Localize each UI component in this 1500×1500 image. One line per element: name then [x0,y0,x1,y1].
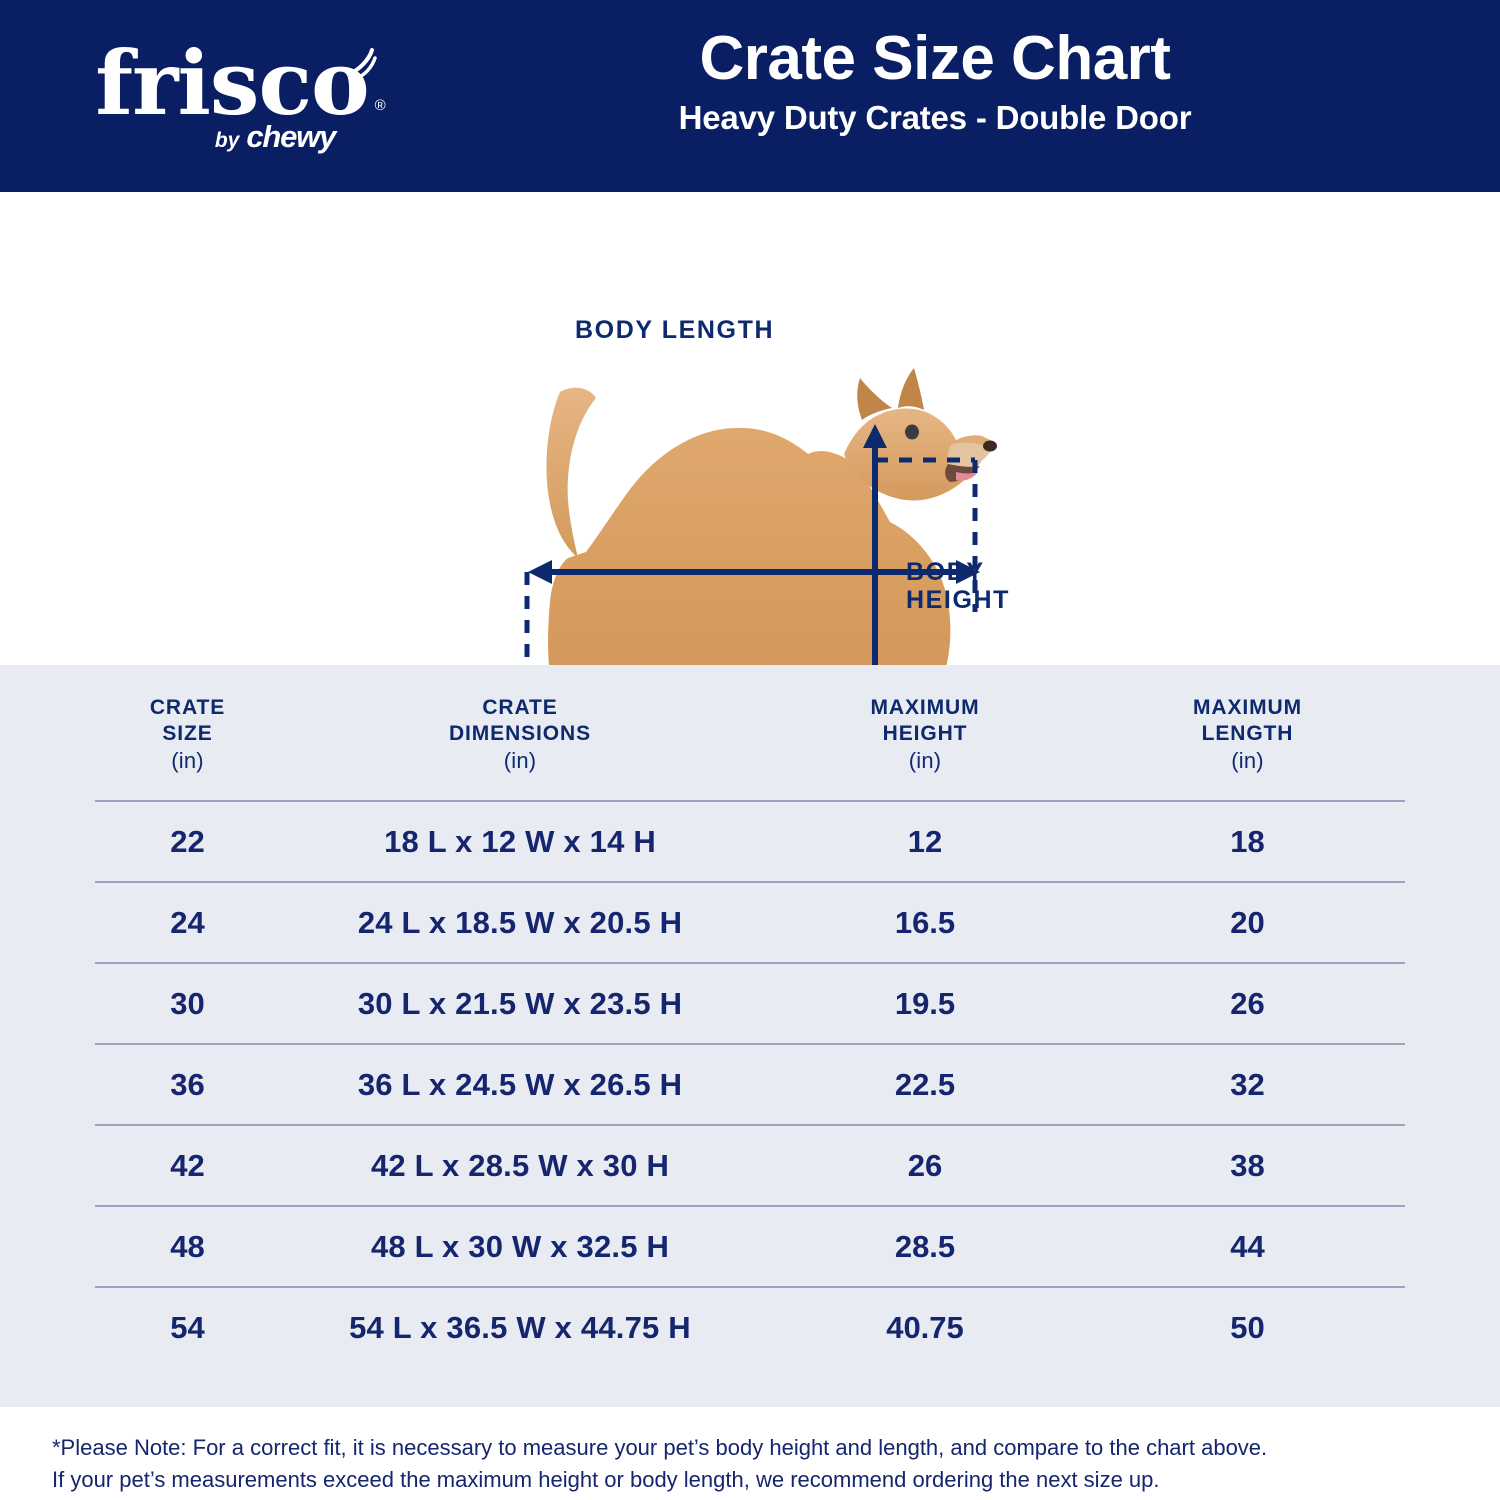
table-left-spacer [0,665,95,801]
header-titles: Crate Size Chart Heavy Duty Crates - Dou… [430,24,1440,137]
frisco-logo: frisco ® by chewy [72,36,392,161]
cell-maximum-length: 44 [1090,1206,1405,1287]
cell-maximum-length: 26 [1090,963,1405,1044]
cell-crate-dimensions: 36 L x 24.5 W x 26.5 H [280,1044,760,1125]
footer-note-line2: If your pet’s measurements exceed the ma… [52,1464,1452,1496]
table-row: 3030 L x 21.5 W x 23.5 H19.526 [0,963,1500,1044]
cell-maximum-height: 12 [760,801,1090,882]
cell-maximum-length: 18 [1090,801,1405,882]
page-footer: *Please Note: For a correct fit, it is n… [0,1407,1500,1500]
cell-crate-dimensions: 30 L x 21.5 W x 23.5 H [280,963,760,1044]
crate-size-chart-page: frisco ® by chewy Crate Size Chart Heavy… [0,0,1500,1500]
cell-crate-dimensions: 42 L x 28.5 W x 30 H [280,1125,760,1206]
size-table-section: CRATE SIZE (in) CRATE DIMENSIONS (in) [0,665,1500,1407]
cell-crate-size: 30 [95,963,280,1044]
table-row: 5454 L x 36.5 W x 44.75 H40.7550 [0,1287,1500,1368]
dog-illustration [547,368,998,665]
crate-size-header-line1: CRATE [150,696,225,719]
cell-crate-dimensions: 18 L x 12 W x 14 H [280,801,760,882]
crate-dimensions-header-line2: DIMENSIONS [449,722,591,745]
cell-maximum-height: 22.5 [760,1044,1090,1125]
body-height-label: BODYHEIGHT [906,558,1010,614]
cell-crate-size: 42 [95,1125,280,1206]
crate-dimensions-header-unit: (in) [280,748,760,774]
dog-measurement-illustration [0,192,1500,665]
cell-crate-size: 36 [95,1044,280,1125]
registered-trademark-icon: ® [375,99,385,113]
footer-note-line1: *Please Note: For a correct fit, it is n… [52,1432,1452,1464]
maximum-length-header-line1: MAXIMUM [1193,696,1302,719]
cell-crate-size: 22 [95,801,280,882]
row-right-spacer [1405,1287,1500,1368]
row-right-spacer [1405,801,1500,882]
row-right-spacer [1405,882,1500,963]
table-row: 2424 L x 18.5 W x 20.5 H16.520 [0,882,1500,963]
body-length-label: BODY LENGTH [575,316,774,344]
column-header-crate-dimensions: CRATE DIMENSIONS (in) [280,665,760,801]
cell-maximum-height: 26 [760,1125,1090,1206]
cell-crate-size: 54 [95,1287,280,1368]
cell-maximum-height: 40.75 [760,1287,1090,1368]
table-header-row: CRATE SIZE (in) CRATE DIMENSIONS (in) [0,665,1500,801]
row-left-spacer [0,1206,95,1287]
page-subtitle: Heavy Duty Crates - Double Door [430,99,1440,137]
cell-crate-dimensions: 24 L x 18.5 W x 20.5 H [280,882,760,963]
crate-size-table: CRATE SIZE (in) CRATE DIMENSIONS (in) [0,665,1500,1368]
row-left-spacer [0,1044,95,1125]
maximum-length-header-line2: LENGTH [1202,722,1294,745]
page-title: Crate Size Chart [430,24,1440,93]
cell-maximum-length: 20 [1090,882,1405,963]
cell-maximum-height: 19.5 [760,963,1090,1044]
row-right-spacer [1405,1044,1500,1125]
table-row: 3636 L x 24.5 W x 26.5 H22.532 [0,1044,1500,1125]
cell-maximum-length: 32 [1090,1044,1405,1125]
cell-maximum-height: 16.5 [760,882,1090,963]
crate-dimensions-header-line1: CRATE [482,696,557,719]
cell-crate-dimensions: 48 L x 30 W x 32.5 H [280,1206,760,1287]
cell-maximum-length: 38 [1090,1125,1405,1206]
footer-note: *Please Note: For a correct fit, it is n… [52,1432,1452,1496]
column-header-maximum-height: MAXIMUM HEIGHT (in) [760,665,1090,801]
cell-crate-size: 48 [95,1206,280,1287]
maximum-length-header-unit: (in) [1090,748,1405,774]
cell-crate-dimensions: 54 L x 36.5 W x 44.75 H [280,1287,760,1368]
row-left-spacer [0,1125,95,1206]
row-right-spacer [1405,1206,1500,1287]
frisco-wordmark: frisco ® [95,42,368,126]
column-header-maximum-length: MAXIMUM LENGTH (in) [1090,665,1405,801]
cell-maximum-height: 28.5 [760,1206,1090,1287]
swoosh-icon [345,48,379,82]
crate-size-header-line2: SIZE [162,722,212,745]
row-left-spacer [0,1287,95,1368]
cell-maximum-length: 50 [1090,1287,1405,1368]
table-row: 2218 L x 12 W x 14 H1218 [0,801,1500,882]
page-header: frisco ® by chewy Crate Size Chart Heavy… [0,0,1500,192]
maximum-height-header-line2: HEIGHT [883,722,968,745]
table-row: 4848 L x 30 W x 32.5 H28.544 [0,1206,1500,1287]
maximum-height-header-unit: (in) [760,748,1090,774]
maximum-height-header-line1: MAXIMUM [871,696,980,719]
measurement-diagram: BODY LENGTH BODYHEIGHT [0,192,1500,665]
table-right-spacer [1405,665,1500,801]
table-row: 4242 L x 28.5 W x 30 H2638 [0,1125,1500,1206]
row-left-spacer [0,801,95,882]
crate-size-header-unit: (in) [95,748,280,774]
row-left-spacer [0,963,95,1044]
column-header-crate-size: CRATE SIZE (in) [95,665,280,801]
frisco-wordmark-text: frisco [95,31,368,135]
row-right-spacer [1405,963,1500,1044]
row-left-spacer [0,882,95,963]
cell-crate-size: 24 [95,882,280,963]
table-body: 2218 L x 12 W x 14 H12182424 L x 18.5 W … [0,801,1500,1368]
row-right-spacer [1405,1125,1500,1206]
